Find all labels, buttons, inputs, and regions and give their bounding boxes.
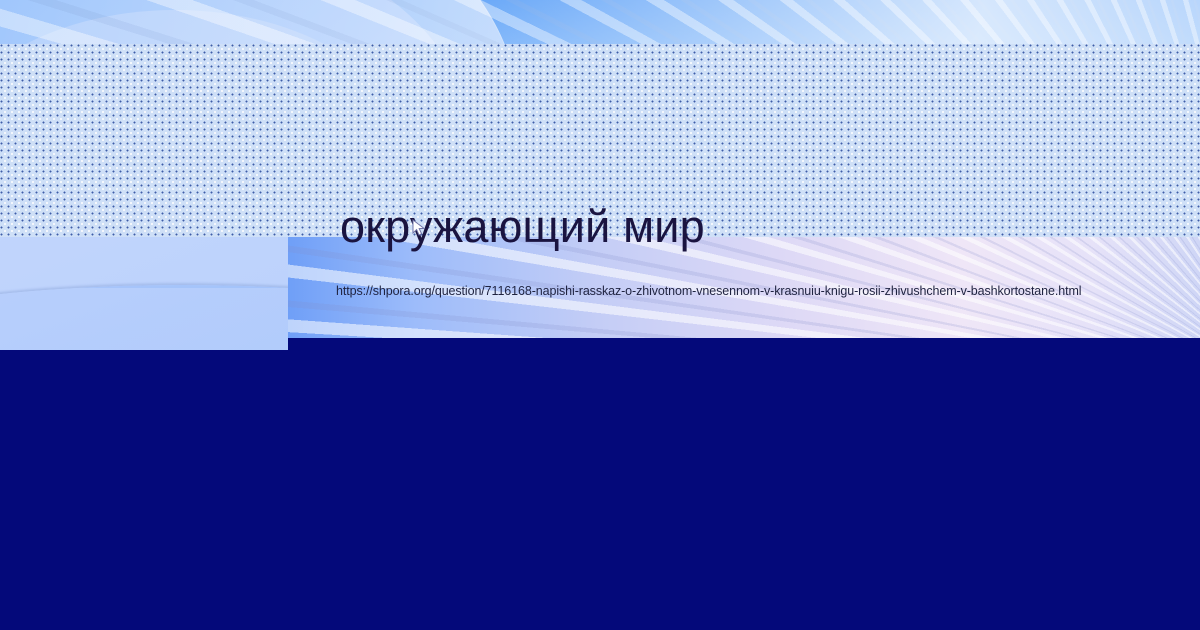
page-title: окружающий мир <box>340 201 705 253</box>
navy-notch <box>288 338 1200 350</box>
sweep-arc-3 <box>0 285 288 350</box>
banner-lower-left-strip <box>0 237 288 350</box>
source-url-text: https://shpora.org/question/7116168-napi… <box>336 283 1081 299</box>
decorative-banner: окружающий мир https://shpora.org/questi… <box>0 0 1200 350</box>
screenshot-canvas: окружающий мир https://shpora.org/questi… <box>0 0 1200 630</box>
navy-background-area <box>0 350 1200 630</box>
